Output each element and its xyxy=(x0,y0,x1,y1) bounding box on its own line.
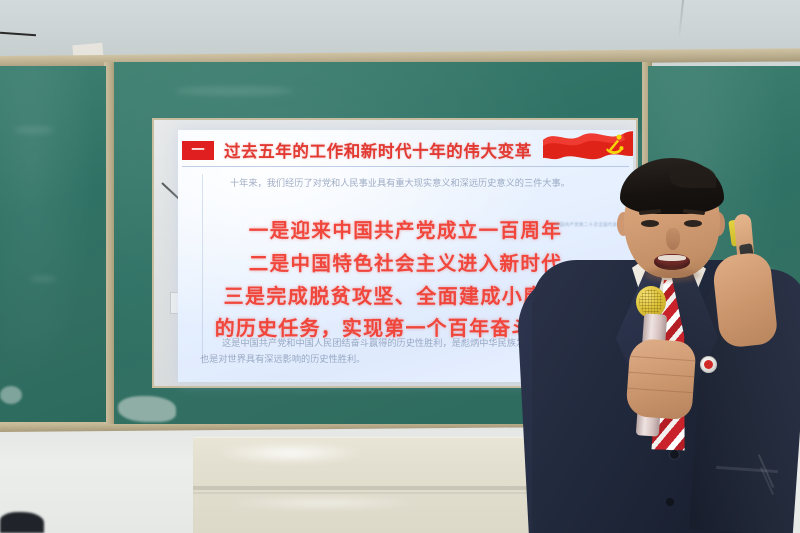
classroom-scene: 一 过去五年的工作和新时代十年的伟大变革 十年来，我们经历了对党和人民事业具有重… xyxy=(0,0,800,533)
party-flag-icon xyxy=(541,130,633,170)
finger-crease xyxy=(627,388,693,394)
slide-section-badge: 一 xyxy=(182,141,214,160)
speaker-chin-shadow xyxy=(644,268,700,282)
chalkboard-left xyxy=(0,66,106,422)
podium-highlight xyxy=(223,496,423,510)
board-scuff-mark xyxy=(0,386,22,404)
board-scuff-mark xyxy=(118,396,176,422)
podium-highlight xyxy=(215,442,365,464)
speaker xyxy=(520,168,800,533)
lapel-badge-icon xyxy=(700,356,717,373)
foreground-object xyxy=(0,512,44,533)
chalk-smudge xyxy=(14,126,54,134)
finger-crease xyxy=(629,356,695,362)
chalk-smudge xyxy=(30,276,56,282)
speaker-eye xyxy=(641,220,659,227)
slide-title-row: 一 过去五年的工作和新时代十年的伟大变革 xyxy=(182,138,532,162)
chalk-smudge xyxy=(174,86,294,96)
suit-button xyxy=(670,450,679,459)
slide-title: 过去五年的工作和新时代十年的伟大变革 xyxy=(224,138,532,162)
speaker-raised-hand xyxy=(711,251,778,349)
slide-title-underline xyxy=(182,166,629,167)
speaker-hand-holding-microphone xyxy=(625,338,696,420)
speaker-eye xyxy=(684,220,702,227)
speaker-nose xyxy=(666,228,680,250)
suit-button xyxy=(666,498,674,506)
finger-crease xyxy=(628,372,694,378)
